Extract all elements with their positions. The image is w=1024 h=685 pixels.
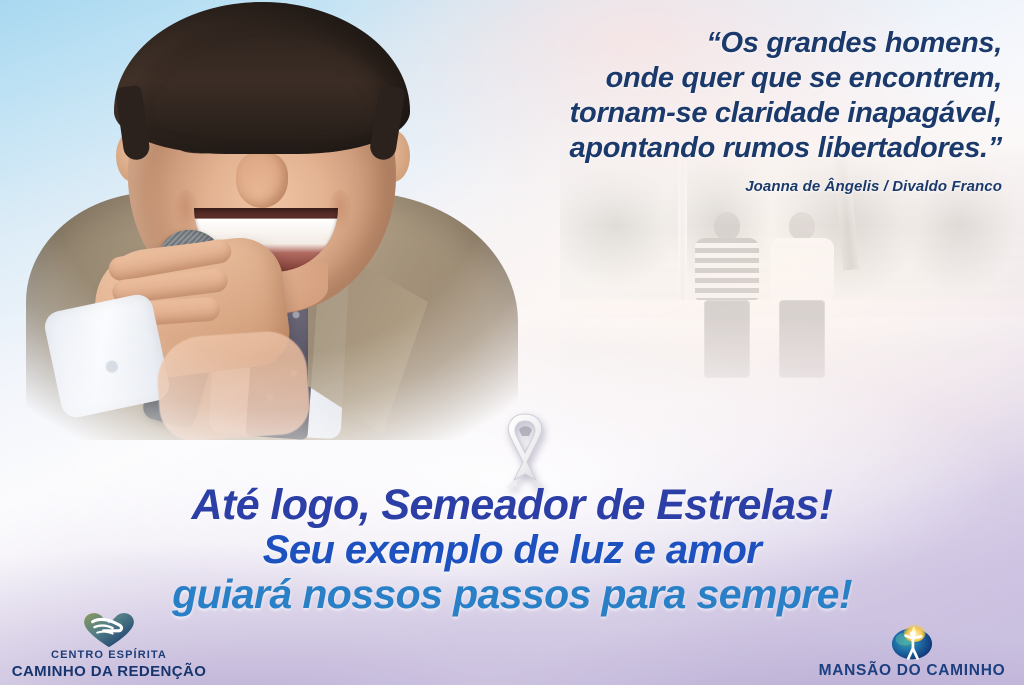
figure-torso xyxy=(695,238,759,300)
shirt-cuff-shape xyxy=(42,292,172,421)
headline-block: Até logo, Semeador de Estrelas! Seu exem… xyxy=(0,484,1024,616)
nose-shape xyxy=(236,152,288,208)
mourning-ribbon-icon xyxy=(492,410,558,492)
quote-block: “Os grandes homens, onde quer que se enc… xyxy=(442,26,1002,195)
quote-line-1: “Os grandes homens, xyxy=(442,26,1002,61)
figure-torso xyxy=(770,238,834,300)
globe-figure-torch-logo-icon xyxy=(806,622,1018,662)
hands-heart-logo-icon xyxy=(4,609,214,649)
walking-figure-striped xyxy=(695,212,759,378)
logo-left-line-1: CENTRO ESPÍRITA xyxy=(4,649,214,663)
logo-left-line-2: CAMINHO DA REDENÇÃO xyxy=(4,663,214,681)
hair-shape xyxy=(114,2,410,154)
quote-line-2: onde quer que se encontrem, xyxy=(442,61,1002,96)
headline-line-2: Seu exemplo de luz e amor xyxy=(0,529,1024,571)
quote-line-4: apontando rumos libertadores.” xyxy=(442,131,1002,166)
hand-holding-microphone-shape xyxy=(155,329,312,443)
figure-head xyxy=(789,212,815,240)
headline-line-1: Até logo, Semeador de Estrelas! xyxy=(0,484,1024,527)
quote-line-3: tornam-se claridade inapagável, xyxy=(442,96,1002,131)
quote-attribution: Joanna de Ângelis / Divaldo Franco xyxy=(442,178,1002,195)
memorial-poster: “Os grandes homens, onde quer que se enc… xyxy=(0,0,1024,685)
logo-right-line-1: MANSÃO DO CAMINHO xyxy=(806,662,1018,681)
walking-figure-white-shirt xyxy=(770,212,834,378)
figure-legs xyxy=(704,300,750,378)
figure-head xyxy=(714,212,740,240)
logo-mansao-do-caminho: MANSÃO DO CAMINHO xyxy=(806,622,1018,681)
logo-centro-espirita: CENTRO ESPÍRITA CAMINHO DA REDENÇÃO xyxy=(4,609,214,681)
figure-legs xyxy=(779,300,825,378)
